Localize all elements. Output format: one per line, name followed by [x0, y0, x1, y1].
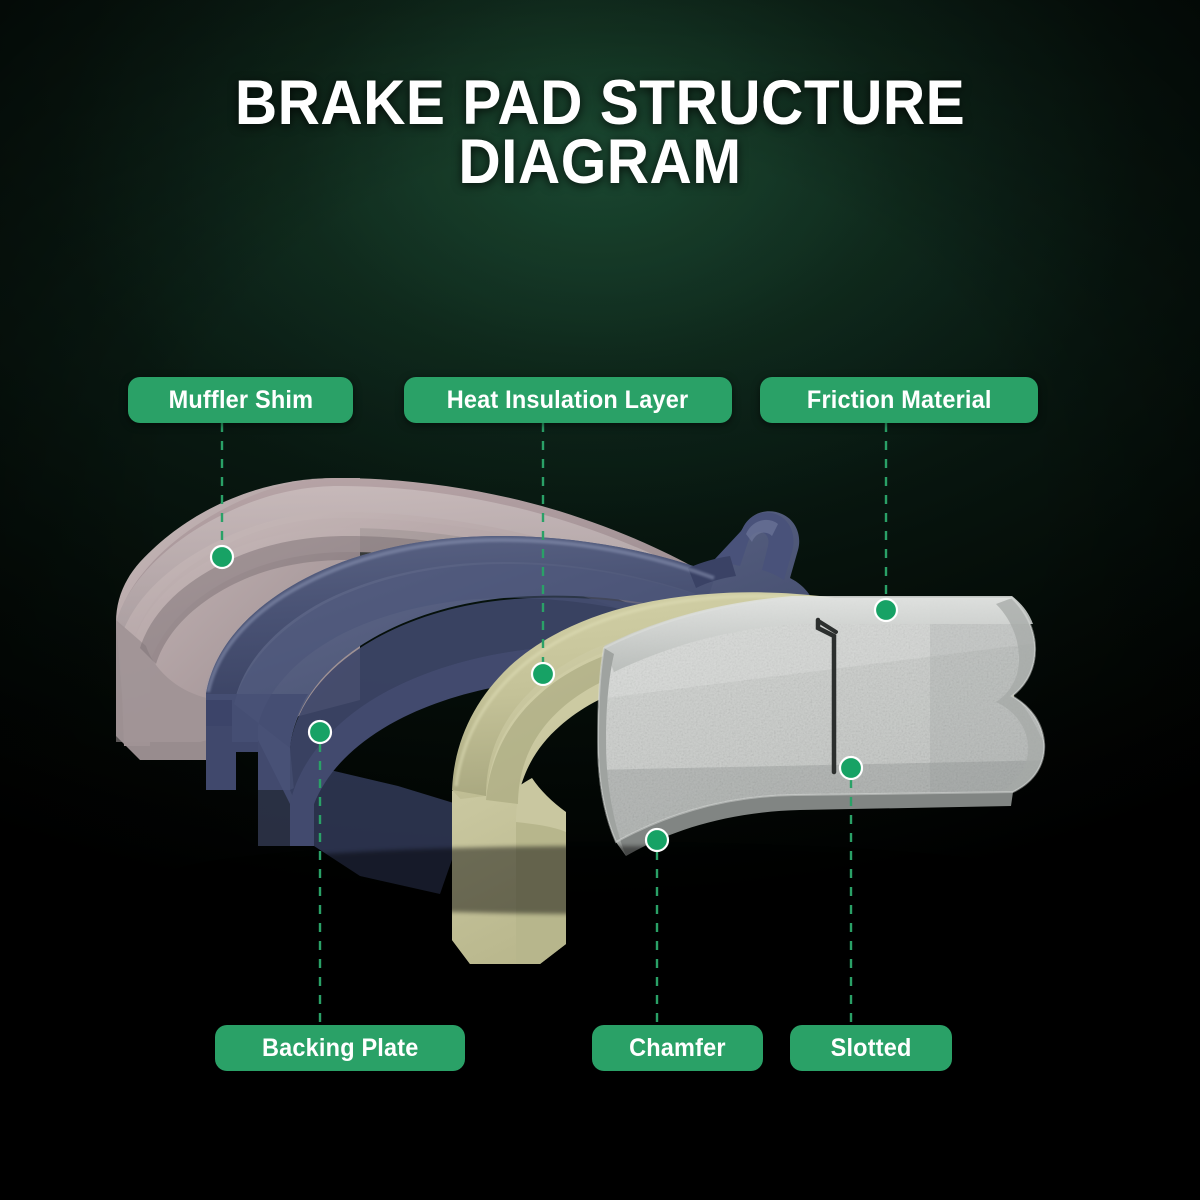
callout-label-chamfer[interactable]: Chamfer — [592, 1025, 763, 1071]
diagram-canvas: BRAKE PAD STRUCTURE DIAGRAM — [0, 0, 1200, 1200]
callout-label-text-slotted: Slotted — [831, 1036, 912, 1061]
callout-label-text-backing-plate: Backing Plate — [262, 1036, 419, 1061]
callout-label-text-chamfer: Chamfer — [629, 1036, 726, 1061]
layer-friction-material — [590, 590, 1060, 856]
callout-label-slotted[interactable]: Slotted — [790, 1025, 952, 1071]
title-line-1: BRAKE PAD STRUCTURE — [42, 74, 1158, 133]
title-line-2: DIAGRAM — [42, 133, 1158, 192]
callout-label-heat-insulation-layer[interactable]: Heat Insulation Layer — [404, 377, 732, 423]
page-title: BRAKE PAD STRUCTURE DIAGRAM — [0, 74, 1200, 191]
callout-label-muffler-shim[interactable]: Muffler Shim — [128, 377, 353, 423]
callout-label-backing-plate[interactable]: Backing Plate — [215, 1025, 465, 1071]
callout-label-text-muffler-shim: Muffler Shim — [168, 388, 313, 413]
callout-label-friction-material[interactable]: Friction Material — [760, 377, 1038, 423]
callout-label-text-heat-insulation-layer: Heat Insulation Layer — [447, 388, 689, 413]
plate-left-step — [206, 700, 232, 726]
assembly-shadow — [170, 846, 1030, 914]
callout-label-text-friction-material: Friction Material — [807, 388, 992, 413]
